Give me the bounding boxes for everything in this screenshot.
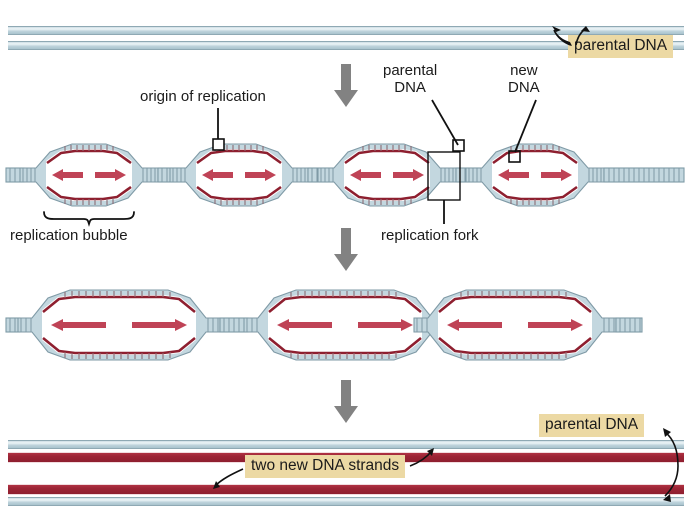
bottom-new-strand-2 <box>8 484 684 495</box>
top-parental-strand-1 <box>8 26 684 35</box>
replication-row-early <box>0 130 692 220</box>
replication-fork-label: replication fork <box>381 227 479 244</box>
new-dna-callout-line1: new <box>510 62 538 79</box>
bottom-parental-strand-bottom <box>8 497 684 506</box>
bottom-parental-strand-top <box>8 440 684 449</box>
parental-dna-callout-line1: parental <box>383 62 437 79</box>
transition-arrow-1 <box>333 64 359 108</box>
dna-replication-figure: parental DNA origin of replication paren… <box>0 0 692 508</box>
parental-dna-callout-label: parental DNA <box>383 62 437 97</box>
duplex-tail-right-late <box>616 318 642 332</box>
two-new-dna-strands-label: two new DNA strands <box>245 455 405 478</box>
transition-arrow-3 <box>333 380 359 424</box>
replication-bubble-label: replication bubble <box>10 227 128 244</box>
top-parental-dna-label: parental DNA <box>568 35 673 58</box>
new-dna-callout-label: new DNA <box>508 62 540 97</box>
bottom-parental-dna-label: parental DNA <box>539 414 644 437</box>
parental-dna-callout-line2: DNA <box>394 79 426 96</box>
new-dna-callout-line2: DNA <box>508 79 540 96</box>
transition-arrow-2 <box>333 228 359 272</box>
replication-row-late <box>0 280 692 370</box>
origin-of-replication-label: origin of replication <box>140 88 266 105</box>
duplex-tail-right <box>604 168 684 182</box>
